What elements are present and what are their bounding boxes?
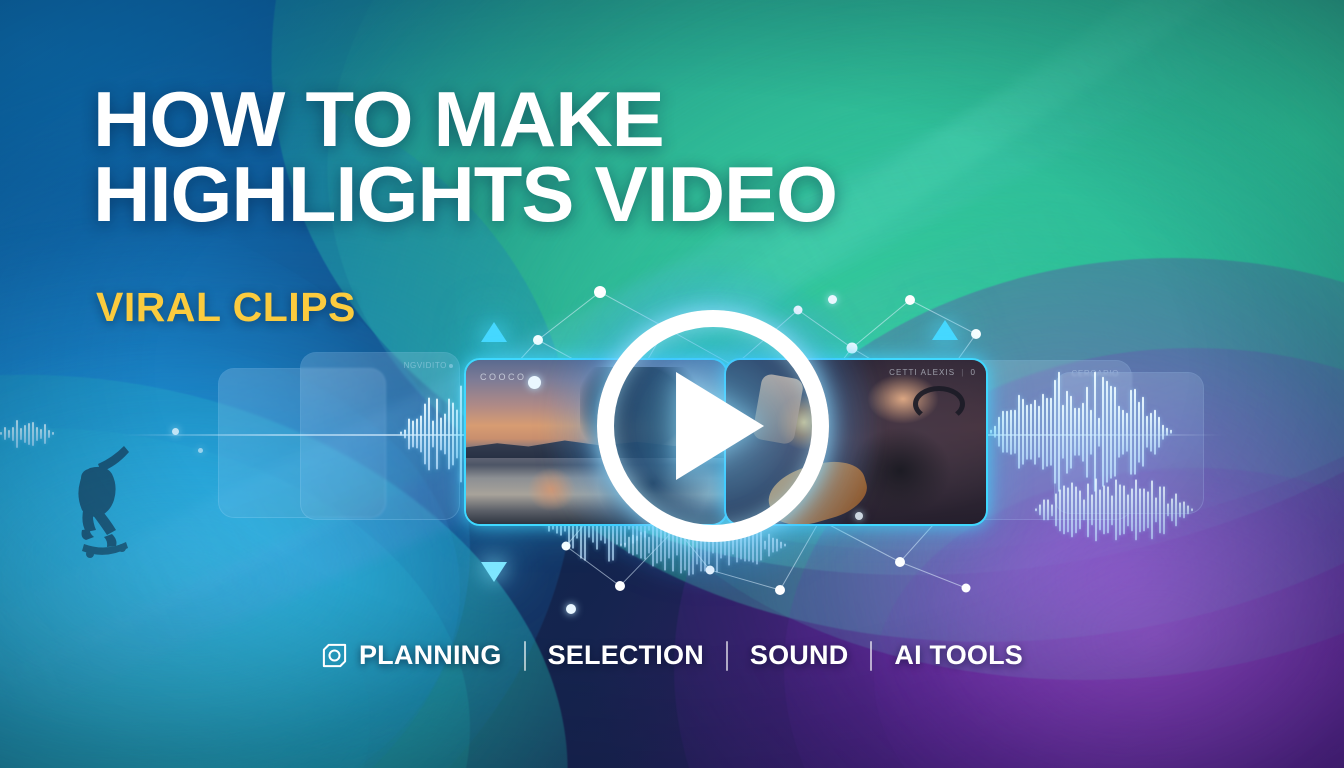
ghost-card-label: NGVIDITO <box>404 361 447 370</box>
thumbnail-canvas: NGVIDITO CEROARIO <box>0 0 1344 768</box>
footer-label: PLANNING <box>359 640 502 671</box>
page-title: HOW TO MAKE HIGHLIGHTS VIDEO <box>93 82 837 232</box>
camera-icon <box>321 642 348 669</box>
particle-dot <box>566 604 576 614</box>
particle-dot <box>528 376 541 389</box>
play-button[interactable] <box>597 310 829 542</box>
overlay-separator-icon: | <box>961 368 964 377</box>
footer-label: AI TOOLS <box>894 640 1023 671</box>
footer-nav: PLANNING SELECTION SOUND AI TOOLS <box>0 640 1344 671</box>
waveform-far-left <box>0 420 54 448</box>
waveform-lower-right <box>1035 478 1193 541</box>
particle-dot <box>855 512 863 520</box>
thumbnail-overlay-left: COOCO <box>480 372 527 382</box>
footer-item-ai-tools[interactable]: AI TOOLS <box>872 640 1045 671</box>
ghost-card-dot-icon <box>449 364 453 368</box>
thumbnail-overlay-label: CETTI ALEXIS <box>889 368 955 377</box>
thumbnail-overlay-label: COOCO <box>480 372 527 382</box>
particle-dot <box>172 428 179 435</box>
subheadline: VIRAL CLIPS <box>96 284 356 331</box>
triangle-down-left-icon <box>481 562 507 582</box>
skateboarder-silhouette <box>60 420 170 560</box>
footer-item-selection[interactable]: SELECTION <box>526 640 726 671</box>
footer-label: SELECTION <box>548 640 704 671</box>
thumbnail-overlay-meta: 0 <box>970 368 976 377</box>
play-triangle-icon <box>676 372 764 480</box>
headline-line-2: HIGHLIGHTS VIDEO <box>93 157 837 232</box>
triangle-up-right-icon <box>932 320 958 340</box>
particle-dot <box>828 295 837 304</box>
particle-dot <box>198 448 203 453</box>
waveform-right <box>990 372 1172 492</box>
triangle-up-left-icon <box>481 322 507 342</box>
footer-label: SOUND <box>750 640 849 671</box>
thumbnail-overlay-right: CETTI ALEXIS | 0 <box>889 368 976 377</box>
footer-item-sound[interactable]: SOUND <box>728 640 871 671</box>
footer-item-planning[interactable]: PLANNING <box>299 640 524 671</box>
